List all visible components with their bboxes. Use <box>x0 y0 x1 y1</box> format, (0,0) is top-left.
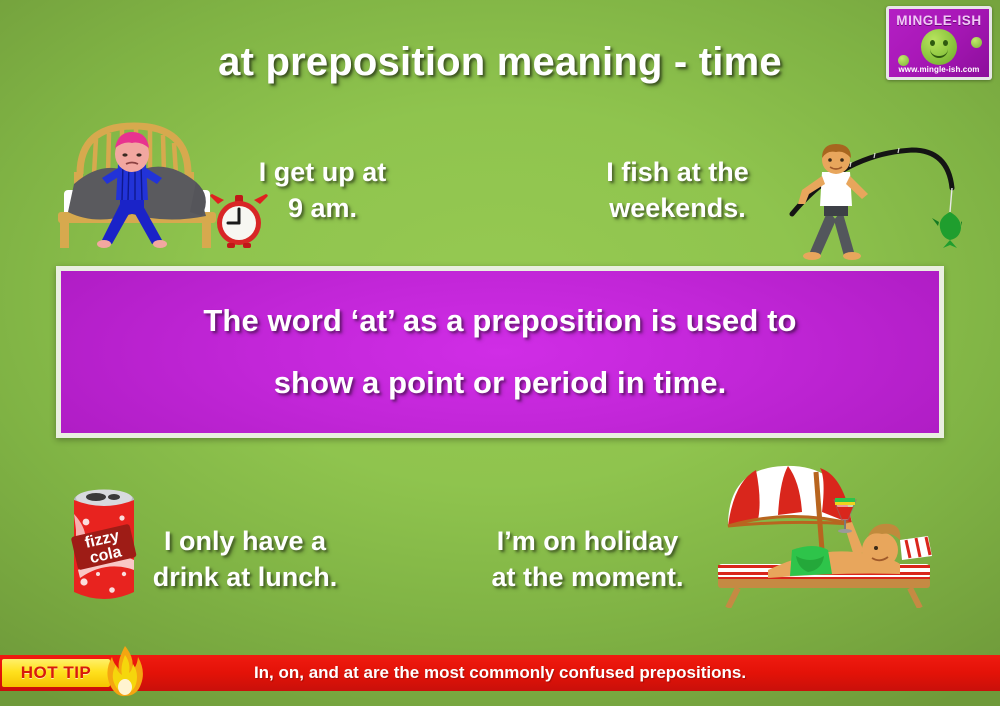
definition-line-1: The word ‘at’ as a preposition is used t… <box>203 303 796 339</box>
fisherman-illustration <box>772 136 962 264</box>
hot-tip-text: In, on, and at are the most commonly con… <box>254 663 746 683</box>
logo-brand-text: MINGLE-ISH <box>889 13 989 28</box>
caption-line-2: 9 am. <box>215 191 430 227</box>
hot-tip-badge: HOT TIP <box>2 659 110 687</box>
infographic-poster: MINGLE-ISH www.mingle-ish.com at preposi… <box>0 0 1000 706</box>
hot-tip-bar: HOT TIP In, on, and at are the most comm… <box>0 655 1000 691</box>
hot-tip-badge-label: HOT TIP <box>21 663 92 683</box>
person-in-bed-illustration <box>46 112 222 250</box>
caption-line-1: I only have a <box>120 524 370 560</box>
beach-sunbather-illustration <box>704 452 948 608</box>
example-caption-holiday: I’m on holiday at the moment. <box>455 524 720 596</box>
flame-icon <box>104 645 146 697</box>
caption-line-2: weekends. <box>570 191 785 227</box>
caption-line-2: at the moment. <box>455 560 720 596</box>
definition-panel: The word ‘at’ as a preposition is used t… <box>56 266 944 438</box>
page-title: at preposition meaning - time <box>0 40 1000 85</box>
example-caption-get-up: I get up at 9 am. <box>215 155 430 227</box>
definition-line-2: show a point or period in time. <box>274 365 727 401</box>
caption-line-1: I’m on holiday <box>455 524 720 560</box>
caption-line-1: I fish at the <box>570 155 785 191</box>
caption-line-2: drink at lunch. <box>120 560 370 596</box>
example-caption-drink: I only have a drink at lunch. <box>120 524 370 596</box>
caption-line-1: I get up at <box>215 155 430 191</box>
example-caption-fish: I fish at the weekends. <box>570 155 785 227</box>
